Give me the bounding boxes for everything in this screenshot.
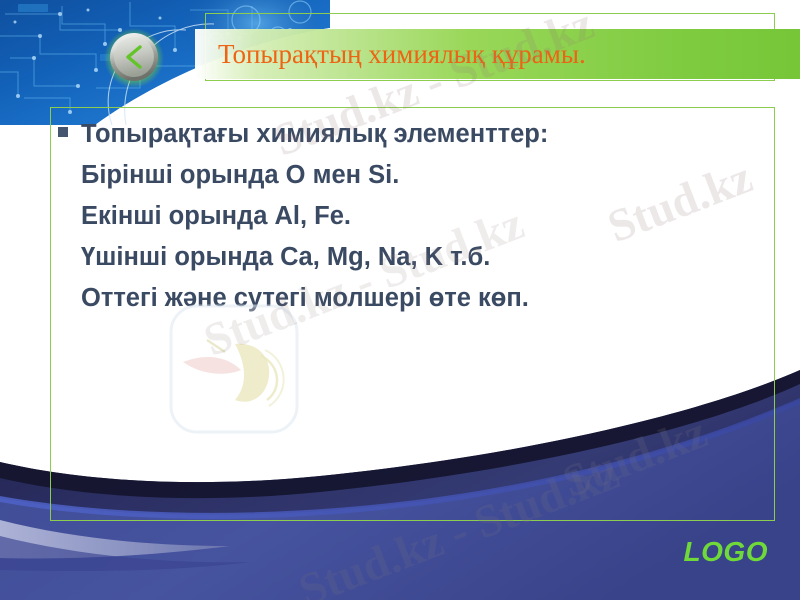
content-line: Оттегі және сутегі молшері өте көп.	[81, 278, 548, 319]
content-line: Екінші орында Al, Fe.	[81, 196, 548, 237]
content-line: Топырақтағы химиялық элементтер:	[81, 114, 548, 155]
back-button[interactable]	[103, 26, 165, 88]
bullet-list-item: Топырақтағы химиялық элементтер: Бірінші…	[58, 114, 778, 319]
square-bullet-icon	[58, 127, 68, 137]
logo-label: LOGO	[684, 536, 768, 568]
content-line: Бірінші орында O мен Si.	[81, 155, 548, 196]
content-body: Топырақтағы химиялық элементтер: Бірінші…	[58, 114, 778, 319]
content-line: Үшінші орында Ca, Mg, Na, K т.б.	[81, 237, 548, 278]
hummingbird-logo-icon	[165, 300, 310, 445]
content-lines: Топырақтағы химиялық элементтер: Бірінші…	[81, 114, 548, 319]
page-title: Топырақтың химиялық құрамы.	[218, 30, 778, 78]
presentation-slide: Топырақтың химиялық құрамы. Топырақтағы …	[0, 0, 800, 600]
